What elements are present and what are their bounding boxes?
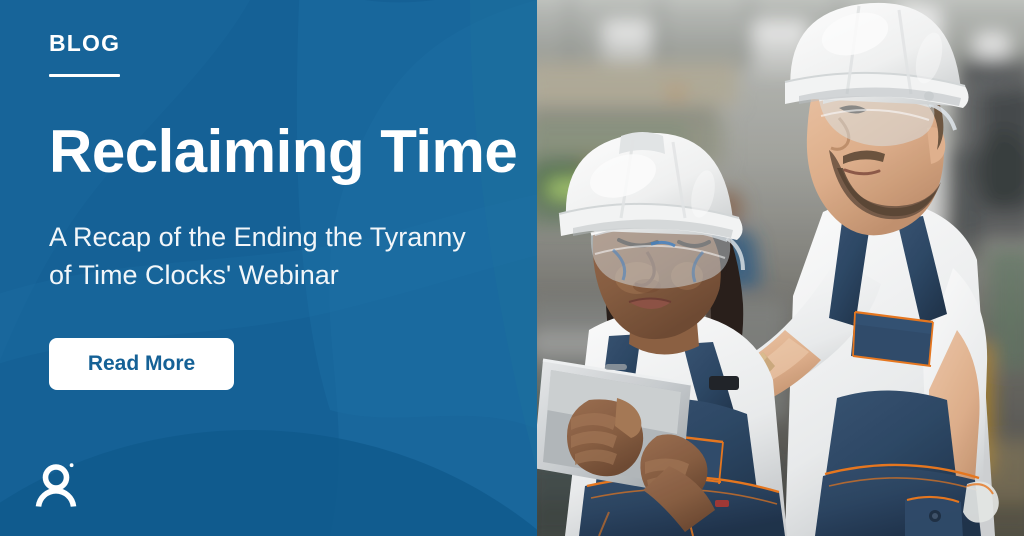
person-mark-logo-icon [31, 459, 89, 517]
blog-promo-banner: BLOG Reclaiming Time A Recap of the Endi… [0, 0, 1024, 536]
eyebrow-divider-rule [49, 74, 120, 77]
hero-photo-illustration [537, 0, 1024, 536]
page-subtitle: A Recap of the Ending the Tyranny of Tim… [49, 218, 489, 295]
read-more-button-label: Read More [88, 352, 195, 376]
hero-photo [537, 0, 1024, 536]
eyebrow-label: BLOG [49, 32, 120, 55]
read-more-button[interactable]: Read More [49, 338, 234, 390]
eyebrow-group: BLOG [49, 32, 120, 77]
left-content-panel: BLOG Reclaiming Time A Recap of the Endi… [0, 0, 537, 536]
page-title: Reclaiming Time [49, 122, 517, 182]
